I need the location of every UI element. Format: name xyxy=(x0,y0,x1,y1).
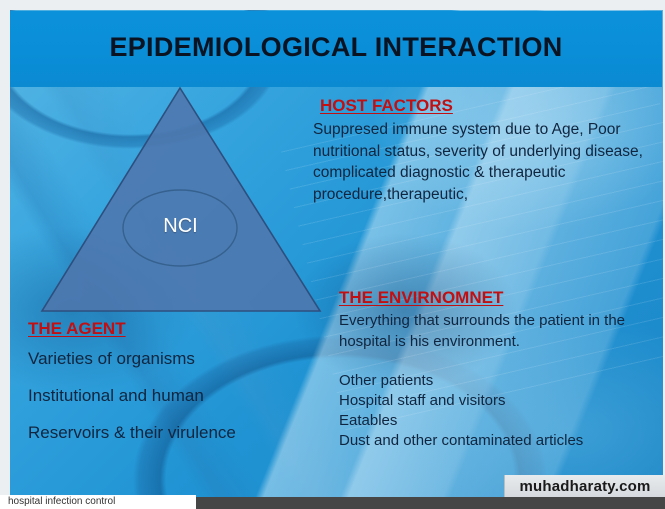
list-item: Dust and other contaminated articles xyxy=(339,431,661,451)
environment-heading: THE ENVIRNOMNET xyxy=(339,288,661,308)
triangle-shape xyxy=(42,88,320,311)
host-factors-body: Suppresed immune system due to Age, Poor… xyxy=(313,119,661,205)
agent-block: THE AGENT Varieties of organisms Institu… xyxy=(28,319,328,460)
caption-text: hospital infection control xyxy=(8,496,115,507)
list-item: Institutional and human xyxy=(28,386,328,406)
environment-body: Everything that surrounds the patient in… xyxy=(339,310,661,352)
caption-strip: hospital infection control xyxy=(0,495,196,509)
list-item: Varieties of organisms xyxy=(28,349,328,369)
agent-heading: THE AGENT xyxy=(28,319,328,339)
watermark-badge: muhadharaty.com xyxy=(504,475,665,497)
host-factors-heading: HOST FACTORS xyxy=(320,96,661,116)
watermark-text: muhadharaty.com xyxy=(519,478,650,495)
environment-block: THE ENVIRNOMNET Everything that surround… xyxy=(339,288,661,451)
host-factors-block: HOST FACTORS Suppresed immune system due… xyxy=(313,96,661,205)
list-item: Eatables xyxy=(339,411,661,431)
nci-label: NCI xyxy=(108,215,253,238)
agent-list: Varieties of organisms Institutional and… xyxy=(28,349,328,443)
environment-list: Other patients Hospital staff and visito… xyxy=(339,371,661,451)
list-item: Other patients xyxy=(339,371,661,391)
list-item: Reservoirs & their virulence xyxy=(28,423,328,443)
list-item: Hospital staff and visitors xyxy=(339,391,661,411)
slide-canvas: EPIDEMIOLOGICAL INTERACTION NCI HOST FAC… xyxy=(0,0,665,509)
